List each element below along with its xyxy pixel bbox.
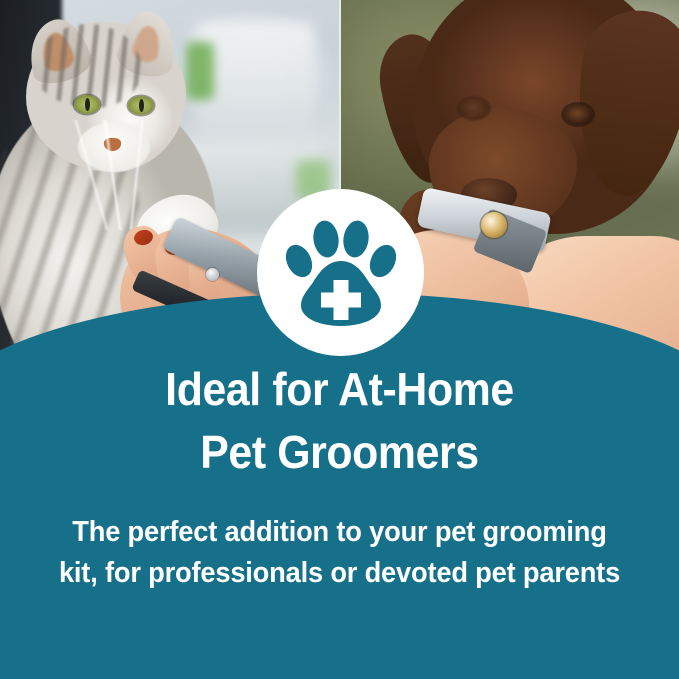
cat-pupil-right <box>139 99 144 112</box>
page-title: Ideal for At-Home Pet Groomers <box>24 358 655 485</box>
nail-clipper-screw <box>481 212 507 238</box>
paw-with-medical-cross-icon <box>257 189 424 356</box>
marketing-image-canvas: Ideal for At-Home Pet Groomers The perfe… <box>0 0 679 679</box>
dog-eye-left <box>459 98 489 119</box>
subhead-line-1: The perfect addition to your pet groomin… <box>20 512 658 553</box>
cat-pupil-left <box>85 98 90 111</box>
headline-line-2: Pet Groomers <box>24 421 655 484</box>
subhead-line-2: kit, for professionals or devoted pet pa… <box>20 553 658 594</box>
page-subtitle: The perfect addition to your pet groomin… <box>20 512 658 594</box>
nail-clipper-screw <box>206 268 219 281</box>
dog-eye-right <box>563 104 593 125</box>
clinic-green-bottle <box>186 42 214 100</box>
headline-line-1: Ideal for At-Home <box>24 358 655 421</box>
